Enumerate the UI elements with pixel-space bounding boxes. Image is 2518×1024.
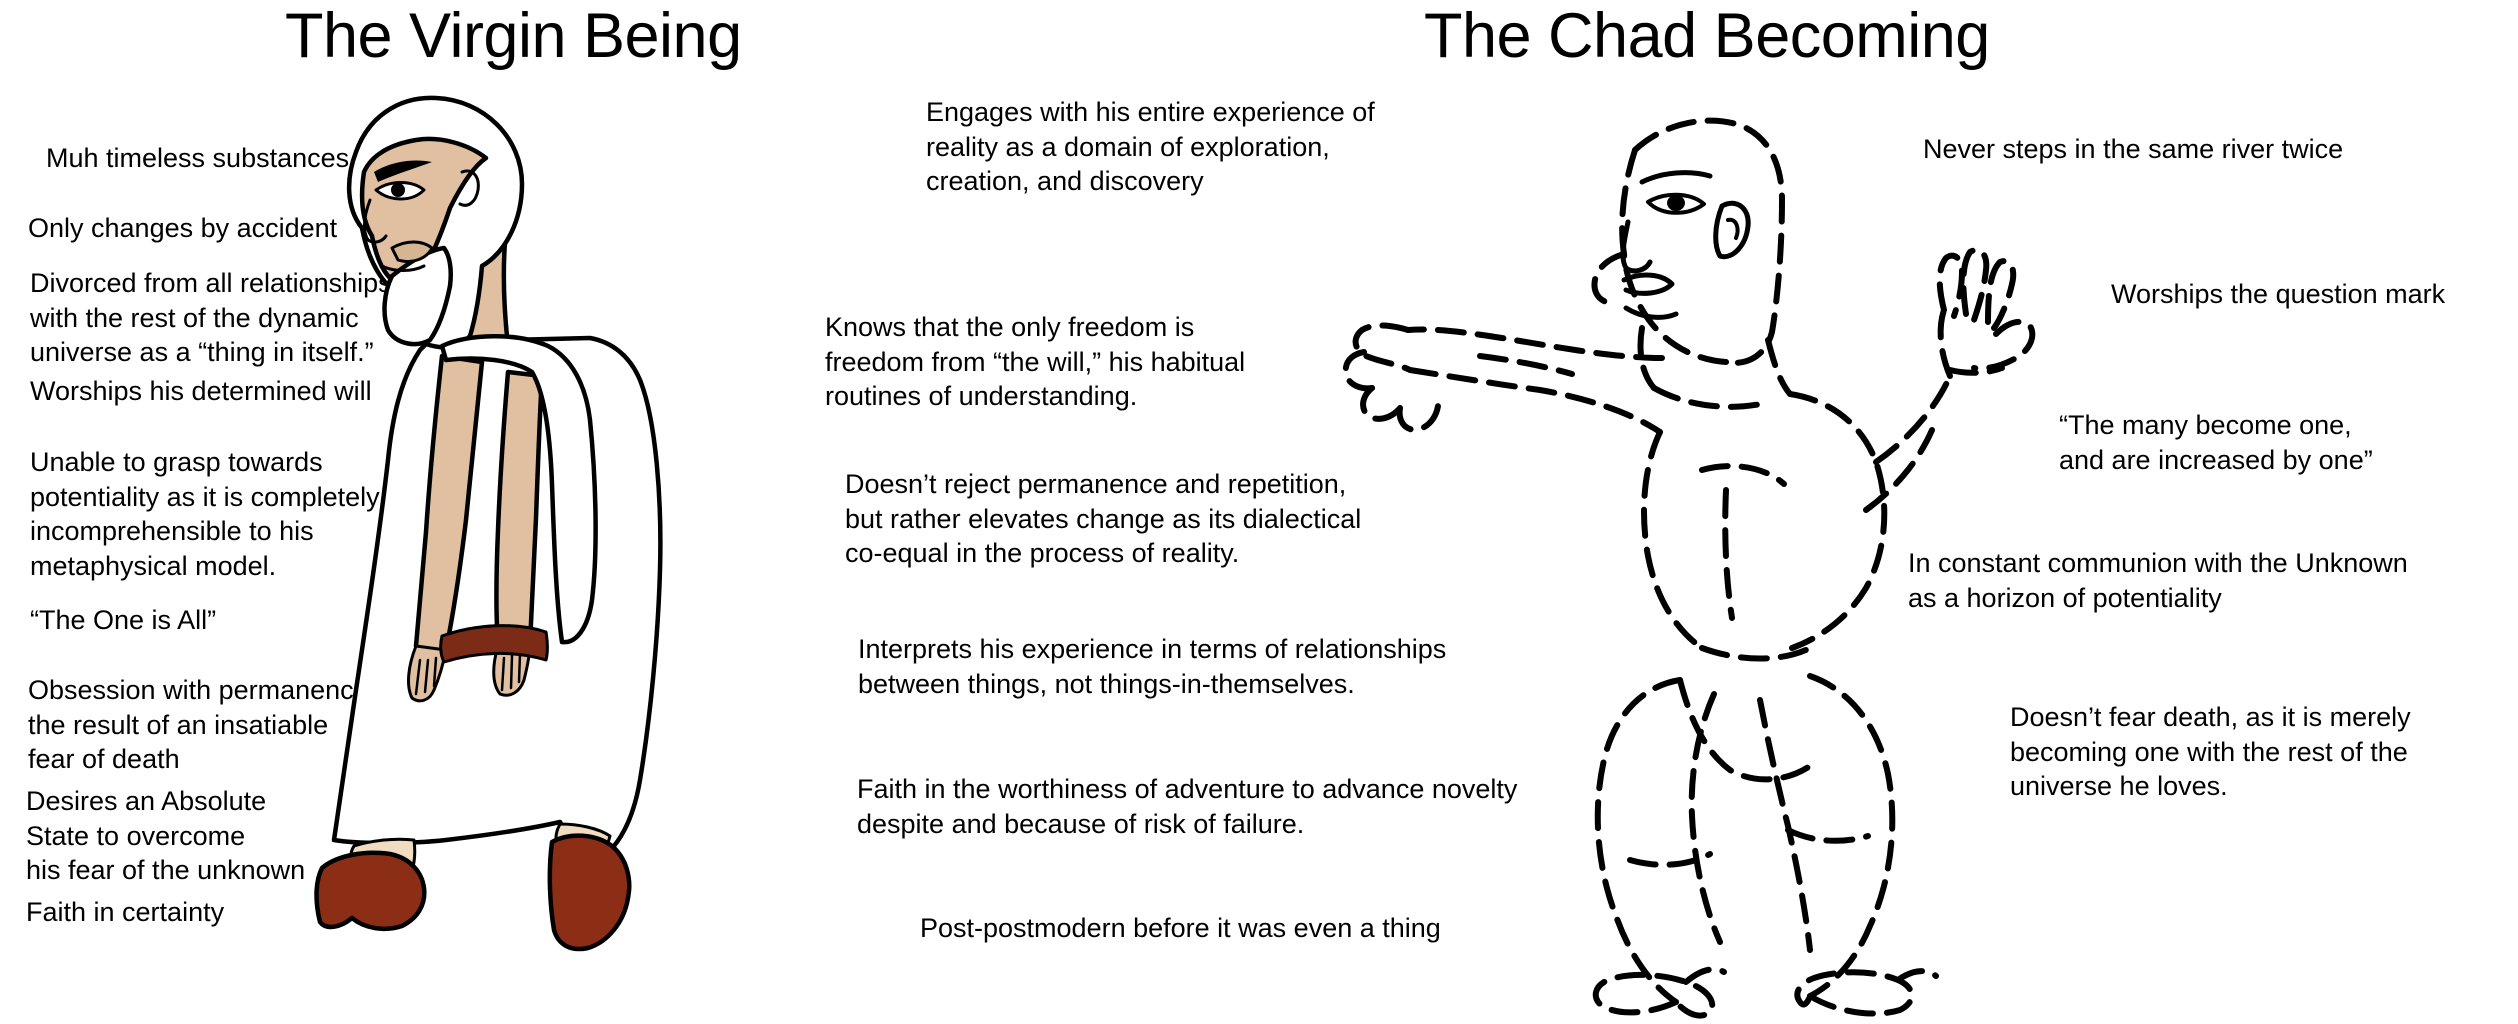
- chad-forearm-detail: [1480, 356, 1572, 374]
- virgin-nose: [364, 200, 386, 242]
- virgin-being-figure: [320, 80, 820, 980]
- virgin-face: [362, 139, 486, 282]
- chad-shoe-left-toe: [1686, 969, 1724, 982]
- virgin-trait-3: Worships his determined will: [30, 374, 372, 409]
- chad-hand-finger-c: [1400, 406, 1438, 430]
- chad-leg-left-knee: [1630, 854, 1710, 865]
- chad-arm-raised-inner: [1866, 430, 1932, 510]
- chad-trait-left-0: Engages with his entire experience of re…: [926, 95, 1375, 199]
- virgin-hand-finger-2: [425, 660, 428, 692]
- chad-hand-pointing: [1356, 326, 1410, 371]
- virgin-mouth: [392, 242, 432, 262]
- chad-trait-right-4: Doesn’t fear death, as it is merely beco…: [2010, 700, 2411, 804]
- chad-leg-right-outer: [1810, 676, 1892, 996]
- chad-trait-left-5: Post-postmodern before it was even a thi…: [920, 911, 1441, 946]
- chad-neck-front: [1641, 328, 1655, 388]
- virgin-trait-8: Faith in certainty: [26, 895, 224, 930]
- virgin-hand-near-finger-2: [511, 656, 512, 688]
- chad-arm-lower: [1410, 370, 1660, 432]
- chad-pupil: [1667, 195, 1685, 211]
- virgin-shoe-back: [317, 853, 425, 929]
- chad-waist: [1702, 648, 1810, 659]
- chad-neck-back: [1768, 340, 1790, 394]
- virgin-sock-back: [351, 839, 415, 878]
- virgin-neck: [424, 230, 508, 346]
- virgin-ear: [460, 171, 478, 205]
- virgin-robe: [334, 338, 660, 864]
- chad-collarbone: [1654, 388, 1770, 407]
- chad-trait-right-2: “The many become one, and are increased …: [2059, 408, 2373, 477]
- virgin-trait-7: Desires an Absolute State to overcome hi…: [26, 784, 305, 888]
- chad-head: [1635, 121, 1782, 363]
- chad-open-hand-finger-3: [1988, 261, 2013, 328]
- chad-forehead: [1622, 150, 1635, 254]
- chad-ear-inner: [1728, 220, 1738, 238]
- chad-abs-center: [1725, 490, 1732, 618]
- virgin-trait-1: Only changes by accident: [28, 211, 337, 246]
- virgin-belt: [441, 626, 548, 662]
- chad-open-hand-palm: [1941, 310, 1950, 376]
- chad-shoe-right: [1797, 972, 1911, 1013]
- virgin-near-arm: [497, 372, 543, 656]
- chad-torso-front: [1644, 432, 1702, 648]
- virgin-eyebrow: [374, 160, 432, 182]
- chad-eye: [1648, 195, 1704, 213]
- virgin-trait-2: Divorced from all relationships with the…: [30, 266, 392, 370]
- chad-arm-upper-top: [1408, 329, 1662, 358]
- chad-trait-right-0: Never steps in the same river twice: [1923, 132, 2343, 167]
- chad-open-hand-finger-1: [1940, 256, 1962, 316]
- virgin-hand-finger-3: [434, 658, 436, 686]
- virgin-shoe-front: [550, 836, 629, 949]
- chad-open-hand-thumb: [1974, 322, 2032, 369]
- virgin-hand-near-finger-3: [519, 654, 520, 682]
- chad-trait-left-3: Interprets his experience in terms of re…: [858, 632, 1446, 701]
- virgin-eye: [376, 183, 424, 200]
- virgin-sock-front: [556, 824, 610, 872]
- chad-eyebrow: [1642, 173, 1710, 182]
- chad-trait-left-1: Knows that the only freedom is freedom f…: [825, 310, 1245, 414]
- virgin-hand-finger-1: [416, 660, 420, 694]
- chad-open-hand-finger-2: [1963, 250, 1986, 320]
- chad-leg-left-inner: [1692, 694, 1720, 942]
- chad-jaw: [1624, 254, 1726, 362]
- virgin-shoulder-drape: [442, 336, 596, 642]
- virgin-trait-6: Obsession with permanence the result of …: [28, 673, 369, 777]
- chad-trait-left-4: Faith in the worthiness of adventure to …: [857, 772, 1517, 841]
- chad-trait-right-3: In constant communion with the Unknown a…: [1908, 546, 2408, 615]
- left-panel-title: The Virgin Being: [285, 3, 742, 69]
- chad-face-left: [1594, 254, 1624, 302]
- chad-chest-pec: [1702, 466, 1784, 484]
- virgin-far-arm: [416, 356, 482, 658]
- chad-hand-finger-b: [1363, 388, 1400, 419]
- chad-hand-finger-a: [1346, 352, 1372, 388]
- chad-trait-right-1: Worships the question mark: [2111, 277, 2445, 312]
- chad-chin: [1626, 308, 1676, 317]
- chad-shoe-right-toe: [1898, 971, 1936, 980]
- chad-mouth: [1624, 275, 1672, 293]
- virgin-trait-0: Muh timeless substances: [46, 141, 349, 176]
- chad-leg-right-inner: [1760, 700, 1810, 950]
- virgin-hand-near: [494, 644, 530, 695]
- chad-shoe-left: [1596, 975, 1713, 1016]
- chad-trait-left-2: Doesn’t reject permanence and repetition…: [845, 467, 1361, 571]
- virgin-beard: [385, 248, 451, 344]
- virgin-hand-far: [409, 646, 446, 701]
- right-panel-title: The Chad Becoming: [1424, 3, 1990, 69]
- chad-leg-right-knee: [1788, 830, 1868, 841]
- chad-nose: [1623, 222, 1650, 271]
- chad-glute: [1680, 680, 1810, 779]
- virgin-trait-5: “The One is All”: [30, 603, 216, 638]
- chad-arm-raised-outer: [1876, 376, 1950, 462]
- virgin-hand-near-finger-1: [502, 658, 504, 690]
- virgin-trait-4: Unable to grasp towards potentiality as …: [30, 445, 380, 583]
- virgin-pupil: [391, 183, 405, 197]
- chad-ear: [1716, 203, 1748, 256]
- chad-becoming-figure: [1290, 70, 2050, 1020]
- chad-leg-left-outer: [1598, 680, 1680, 1002]
- chad-open-hand-base: [1950, 368, 2002, 373]
- chad-torso-back: [1790, 394, 1884, 648]
- meme-canvas: The Virgin Being The Chad Becoming Muh t…: [0, 0, 2518, 1024]
